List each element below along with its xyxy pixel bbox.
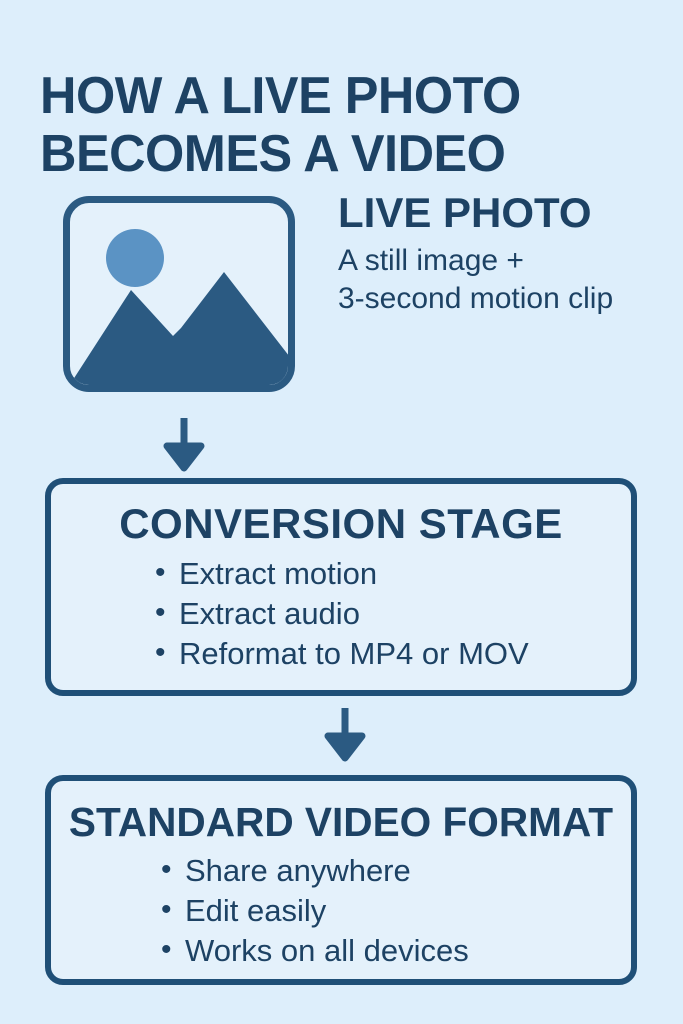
live-photo-text-block: LIVE PHOTO A still image + 3-second moti… bbox=[338, 190, 674, 318]
infographic-canvas: HOW A LIVE PHOTO BECOMES A VIDEO LIVE PH… bbox=[0, 0, 683, 1024]
standard-video-format-heading: STANDARD VIDEO FORMAT bbox=[54, 781, 628, 845]
standard-video-format-box: STANDARD VIDEO FORMAT Share anywhere Edi… bbox=[45, 775, 637, 985]
live-photo-description-line-2: 3-second motion clip bbox=[338, 280, 674, 318]
standard-video-format-bullets: Share anywhere Edit easily Works on all … bbox=[51, 845, 631, 971]
conversion-stage-bullets: Extract motion Extract audio Reformat to… bbox=[51, 548, 631, 674]
mountains-icon bbox=[69, 246, 295, 386]
down-arrow-icon bbox=[323, 708, 367, 764]
page-title-line-1: HOW A LIVE PHOTO bbox=[40, 67, 632, 125]
page-title: HOW A LIVE PHOTO BECOMES A VIDEO bbox=[40, 67, 632, 183]
down-arrow-icon bbox=[162, 418, 206, 474]
list-item: Share anywhere bbox=[161, 851, 631, 891]
list-item: Extract audio bbox=[155, 594, 631, 634]
conversion-stage-box: CONVERSION STAGE Extract motion Extract … bbox=[45, 478, 637, 696]
live-photo-description-line-1: A still image + bbox=[338, 242, 674, 280]
live-photo-heading: LIVE PHOTO bbox=[338, 190, 674, 236]
photo-placeholder-icon bbox=[63, 196, 295, 392]
list-item: Edit easily bbox=[161, 891, 631, 931]
list-item: Extract motion bbox=[155, 554, 631, 594]
conversion-stage-heading: CONVERSION STAGE bbox=[51, 484, 631, 548]
list-item: Reformat to MP4 or MOV bbox=[155, 634, 631, 674]
list-item: Works on all devices bbox=[161, 931, 631, 971]
live-photo-description: A still image + 3-second motion clip bbox=[338, 242, 674, 318]
live-photo-section: LIVE PHOTO A still image + 3-second moti… bbox=[0, 190, 683, 410]
page-title-line-2: BECOMES A VIDEO bbox=[40, 125, 632, 183]
